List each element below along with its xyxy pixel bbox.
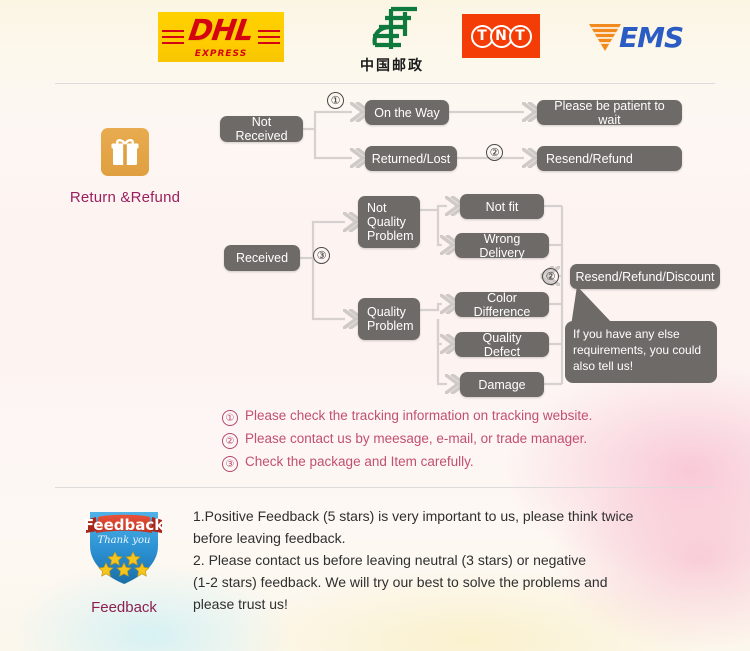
dhl-stripe-right <box>258 30 280 48</box>
note-number: ② <box>222 433 238 449</box>
divider-middle <box>55 487 715 488</box>
flow-node-color-difference[interactable]: Color Difference <box>455 292 549 317</box>
tnt-logo: T N T <box>462 14 540 58</box>
dhl-wordmark: DHL <box>187 16 255 45</box>
flow-node-wrong-delivery[interactable]: Wrong Delivery <box>455 233 549 258</box>
flow-node-quality-problem[interactable]: Quality Problem <box>358 298 420 340</box>
note-text: Please check the tracking information on… <box>245 408 592 423</box>
flow-node-received[interactable]: Received <box>224 245 300 271</box>
instruction-notes-list: ① Please check the tracking information … <box>222 408 702 477</box>
flow-node-damage[interactable]: Damage <box>460 372 544 397</box>
flow-node-please-be-patient[interactable]: Please be patient to wait <box>537 100 682 125</box>
note-item: ① Please check the tracking information … <box>222 408 702 426</box>
dhl-express-text: EXPRESS <box>195 49 247 59</box>
feedback-line: before leaving feedback. <box>193 527 713 549</box>
feedback-badge-subtitle: Thank you <box>98 535 151 546</box>
feedback-line: (1-2 stars) feedback. We will try our be… <box>193 571 713 593</box>
ems-wordmark: EMS <box>619 21 683 54</box>
feedback-badge-title: Feedback <box>84 516 165 534</box>
ems-logo: EMS <box>588 18 700 56</box>
feedback-policy-text: 1.Positive Feedback (5 stars) is very im… <box>193 505 713 616</box>
dhl-logo: DHL EXPRESS <box>158 12 284 62</box>
feedback-line: please trust us! <box>193 593 713 615</box>
feedback-label: Feedback <box>58 599 190 616</box>
note-text: Check the package and Item carefully. <box>245 454 474 469</box>
note-item: ③ Check the package and Item carefully. <box>222 454 702 472</box>
flow-node-quality-defect[interactable]: Quality Defect <box>455 332 549 357</box>
flow-marker-2-upper: ② <box>486 144 503 161</box>
dhl-stripe-left <box>162 30 184 48</box>
note-text: Please contact us by meesage, e-mail, or… <box>245 431 587 446</box>
feedback-line: 1.Positive Feedback (5 stars) is very im… <box>193 505 713 527</box>
flow-node-resend-refund[interactable]: Resend/Refund <box>537 146 682 171</box>
flow-marker-1: ① <box>327 92 344 109</box>
return-process-flowchart: Not Received On the Way Returned/Lost Pl… <box>0 84 750 404</box>
note-item: ② Please contact us by meesage, e-mail, … <box>222 431 702 449</box>
ems-triangle-icon <box>588 22 622 52</box>
tnt-letters: T N T <box>473 25 530 48</box>
flow-marker-2-lower: ② <box>542 268 559 285</box>
carrier-logo-strip: DHL EXPRESS 中国邮政 T N T <box>0 0 750 80</box>
flow-node-on-the-way[interactable]: On the Way <box>365 100 449 125</box>
flow-node-returned-lost[interactable]: Returned/Lost <box>365 146 457 171</box>
flow-node-not-quality-problem[interactable]: Not Quality Problem <box>358 196 420 248</box>
flow-marker-3: ③ <box>313 247 330 264</box>
china-post-mark-icon <box>361 6 423 52</box>
china-post-text: 中国邮政 <box>360 55 424 75</box>
flow-note-bubble: If you have any else requirements, you c… <box>565 321 717 383</box>
flow-node-not-received[interactable]: Not Received <box>220 116 303 142</box>
feedback-section-icon: Feedback Thank you Feedback <box>58 500 190 616</box>
note-number: ③ <box>222 456 238 472</box>
feedback-line: 2. Please contact us before leaving neut… <box>193 549 713 571</box>
china-post-logo: 中国邮政 <box>340 6 444 78</box>
feedback-badge-icon: Feedback Thank you <box>78 500 170 588</box>
flow-node-not-fit[interactable]: Not fit <box>460 194 544 219</box>
tnt-letter-3: T <box>509 25 532 48</box>
note-number: ① <box>222 410 238 426</box>
